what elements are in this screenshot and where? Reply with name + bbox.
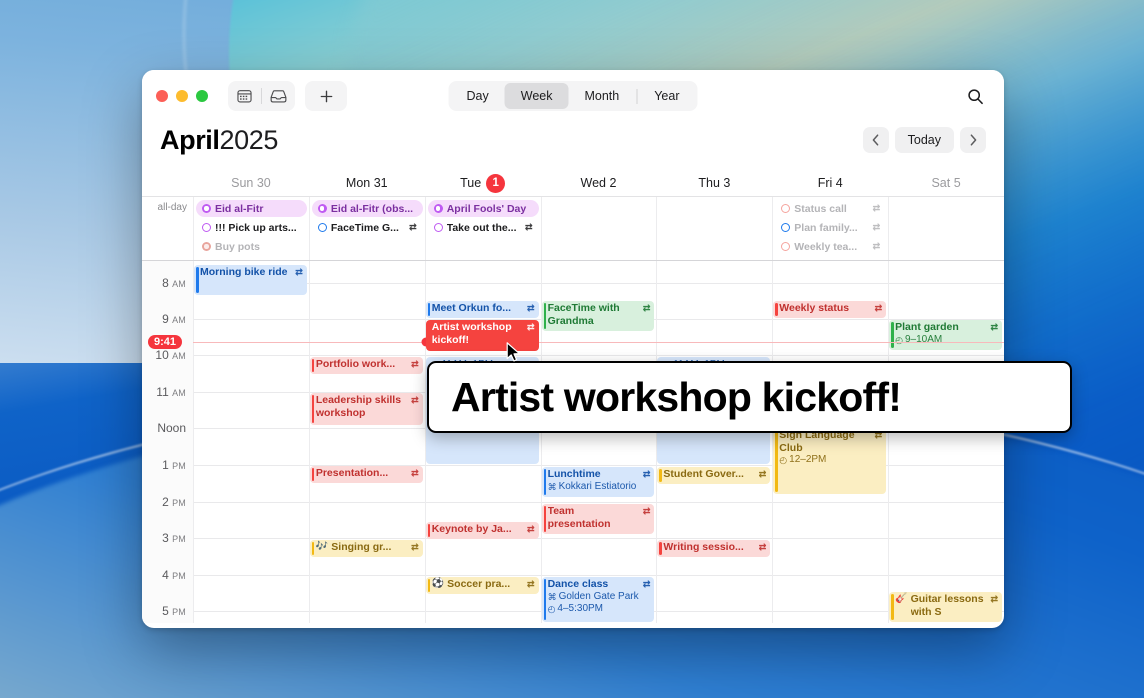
event-emoji-icon: 🎶 xyxy=(316,541,328,554)
event-title: Student Gover... xyxy=(663,468,755,481)
hour-gridline xyxy=(657,502,772,503)
hour-gridline xyxy=(889,575,1004,576)
all-day-event-title: Take out the... xyxy=(447,222,521,234)
event-time: ◴4–5:30PM xyxy=(548,603,651,616)
repeat-icon: ⇄ xyxy=(643,468,651,481)
all-day-event[interactable]: !!! Pick up arts... xyxy=(196,219,307,236)
hour-gridline xyxy=(310,428,425,429)
view-divider xyxy=(636,89,637,104)
repeat-icon: ⇄ xyxy=(409,222,417,233)
hour-gridline xyxy=(657,319,772,320)
all-day-event-title: April Fools' Day xyxy=(447,203,533,215)
event-color-bar xyxy=(544,469,547,495)
hour-gridline xyxy=(426,575,541,576)
event-color-dot xyxy=(781,204,790,213)
repeat-icon: ⇄ xyxy=(411,358,419,371)
hour-label-4: 4 PM xyxy=(162,568,186,582)
all-day-column-3[interactable] xyxy=(541,197,657,260)
hour-gridline xyxy=(194,392,309,393)
mouse-cursor xyxy=(506,342,521,368)
date-navigation: Today xyxy=(863,122,986,153)
time-axis: 8 AM9 AM10 AM11 AMNoon1 PM2 PM3 PM4 PM5 … xyxy=(142,261,193,623)
hour-gridline xyxy=(194,428,309,429)
all-day-column-4[interactable] xyxy=(656,197,772,260)
repeat-icon: ⇄ xyxy=(527,321,535,334)
header-year: 2025 xyxy=(220,125,278,155)
event-color-dot xyxy=(781,223,790,232)
hour-gridline xyxy=(773,319,888,320)
event-title: FaceTime with Grandma xyxy=(548,302,640,327)
zoom-button[interactable] xyxy=(196,90,208,102)
repeat-icon: ⇄ xyxy=(990,593,998,606)
all-day-label: all-day xyxy=(142,197,193,260)
all-day-column-5[interactable]: Status call⇄Plan family...⇄Weekly tea...… xyxy=(772,197,888,260)
event-title: Meet Orkun fo... xyxy=(432,302,524,315)
calendar-event-plant-garden[interactable]: Plant garden⇄◴9–10AM xyxy=(889,320,1002,350)
event-color-bar xyxy=(312,359,315,372)
hour-gridline xyxy=(889,538,1004,539)
close-button[interactable] xyxy=(156,90,168,102)
view-selector[interactable]: Day Week Month Year xyxy=(449,81,698,111)
page-title: April2025 xyxy=(160,122,278,154)
event-color-bar xyxy=(428,322,431,349)
hour-label-10: 10 AM xyxy=(155,348,186,362)
day-header-spacer xyxy=(142,170,193,196)
clock-icon: ◴ xyxy=(548,603,556,616)
day-header-thu[interactable]: Thu 3 xyxy=(656,170,772,196)
hour-gridline xyxy=(426,283,541,284)
event-title: Morning bike ride xyxy=(200,266,292,279)
event-color-dot xyxy=(202,242,211,251)
hour-gridline xyxy=(773,355,888,356)
day-header-mon[interactable]: Mon 31 xyxy=(309,170,425,196)
all-day-column-0[interactable]: Eid al-Fitr!!! Pick up arts...Buy pots xyxy=(193,197,309,260)
all-day-row: all-day Eid al-Fitr!!! Pick up arts...Bu… xyxy=(142,196,1004,261)
repeat-icon: ⇄ xyxy=(873,222,881,233)
event-emoji-icon: ⚽ xyxy=(432,578,444,591)
day-header-name: Fri 4 xyxy=(818,176,843,190)
calendar-event-dance-class[interactable]: Dance class⇄⌘Golden Gate Park◴4–5:30PM xyxy=(542,577,655,622)
hour-gridline xyxy=(657,355,772,356)
location-icon: ⌘ xyxy=(548,481,557,494)
hour-gridline xyxy=(542,283,657,284)
all-day-event-title: Eid al-Fitr (obs... xyxy=(331,203,417,215)
event-title: Portfolio work... xyxy=(316,358,408,371)
event-emoji-icon: 🎸 xyxy=(895,593,907,606)
hour-gridline xyxy=(773,538,888,539)
event-color-bar xyxy=(312,468,315,481)
day-column-6[interactable] xyxy=(888,261,1004,623)
tooltip-text: Artist workshop kickoff! xyxy=(451,374,901,421)
repeat-icon: ⇄ xyxy=(643,578,651,591)
all-day-event[interactable]: Eid al-Fitr (obs... xyxy=(312,200,423,217)
event-title: Singing gr... xyxy=(331,541,408,554)
hour-gridline xyxy=(310,283,425,284)
minimize-button[interactable] xyxy=(176,90,188,102)
hour-gridline xyxy=(194,502,309,503)
hour-gridline xyxy=(657,575,772,576)
hour-gridline xyxy=(889,355,1004,356)
clock-icon: ◴ xyxy=(779,454,787,467)
calendar-event-keynote-by-ja[interactable]: Keynote by Ja...⇄ xyxy=(426,522,539,539)
toolbar-view-group xyxy=(228,81,295,111)
all-day-event-title: Status call xyxy=(794,203,868,215)
view-month[interactable]: Month xyxy=(568,83,635,109)
hour-gridline xyxy=(310,355,425,356)
event-title: Leadership skills workshop xyxy=(316,394,408,419)
event-title: Plant garden xyxy=(895,321,987,334)
event-title: Keynote by Ja... xyxy=(432,523,524,536)
hour-label-1: 1 PM xyxy=(162,458,186,472)
event-color-dot xyxy=(318,204,327,213)
event-color-bar xyxy=(775,303,778,316)
event-color-bar xyxy=(428,303,431,316)
calendar-event-lunchtime[interactable]: Lunchtime⇄⌘Kokkari Estiatorio xyxy=(542,467,655,497)
current-time-label: 9:41 xyxy=(148,335,182,349)
day-header-name: Mon 31 xyxy=(346,176,388,190)
view-week[interactable]: Week xyxy=(505,83,569,109)
calendar-event-morning-bike-ride[interactable]: Morning bike ride⇄ xyxy=(194,265,307,295)
hour-gridline xyxy=(426,355,541,356)
all-day-event-title: FaceTime G... xyxy=(331,222,405,234)
window-toolbar: Day Week Month Year xyxy=(142,70,1004,122)
calendar-event-student-government[interactable]: Student Gover...⇄ xyxy=(657,467,770,484)
all-day-event[interactable]: Weekly tea...⇄ xyxy=(775,238,886,255)
hour-label-2: 2 PM xyxy=(162,495,186,509)
hour-gridline xyxy=(542,502,657,503)
all-day-event[interactable]: Status call⇄ xyxy=(775,200,886,217)
event-color-bar xyxy=(659,469,662,482)
event-color-bar xyxy=(544,579,547,620)
event-title: Soccer pra... xyxy=(447,578,524,591)
hour-label-11: 11 AM xyxy=(156,385,186,399)
hour-gridline xyxy=(310,319,425,320)
event-time: ◴9–10AM xyxy=(895,334,998,347)
event-color-dot xyxy=(202,204,211,213)
traffic-lights xyxy=(142,90,208,102)
hour-gridline xyxy=(426,465,541,466)
all-day-column-1[interactable]: Eid al-Fitr (obs...FaceTime G...⇄ xyxy=(309,197,425,260)
hour-gridline xyxy=(657,283,772,284)
repeat-icon: ⇄ xyxy=(759,541,767,554)
day-header-sat[interactable]: Sat 5 xyxy=(888,170,1004,196)
hour-label-3: 3 PM xyxy=(162,531,186,545)
event-color-bar xyxy=(544,506,547,532)
calendar-event-singing-group[interactable]: 🎶Singing gr...⇄ xyxy=(310,540,423,557)
repeat-icon: ⇄ xyxy=(643,505,651,518)
calendar-event-weekly-status[interactable]: Weekly status⇄ xyxy=(773,301,886,318)
event-title: Lunchtime xyxy=(548,468,640,481)
hour-gridline xyxy=(194,611,309,612)
all-day-event-title: Weekly tea... xyxy=(794,241,868,253)
view-day[interactable]: Day xyxy=(451,83,505,109)
calendar-event-writing-session[interactable]: Writing sessio...⇄ xyxy=(657,540,770,557)
hour-gridline xyxy=(773,611,888,612)
day-header-name: Tue xyxy=(460,176,481,190)
event-color-dot xyxy=(781,242,790,251)
all-day-event[interactable]: Plan family...⇄ xyxy=(775,219,886,236)
today-button[interactable]: Today xyxy=(895,127,954,153)
view-year[interactable]: Year xyxy=(638,83,695,109)
hour-gridline xyxy=(773,283,888,284)
repeat-icon: ⇄ xyxy=(643,302,651,315)
all-day-event[interactable]: Eid al-Fitr xyxy=(196,200,307,217)
event-color-bar xyxy=(775,430,778,492)
day-header-name: Wed 2 xyxy=(581,176,617,190)
hour-gridline xyxy=(194,575,309,576)
all-day-column-2[interactable]: April Fools' DayTake out the...⇄ xyxy=(425,197,541,260)
hour-gridline xyxy=(542,465,657,466)
calendar-event-guitar-lessons[interactable]: 🎸Guitar lessons with S⇄ xyxy=(889,592,1002,622)
location-icon: ⌘ xyxy=(548,591,557,604)
calendar-event-portfolio-work[interactable]: Portfolio work...⇄ xyxy=(310,357,423,374)
hour-gridline xyxy=(194,538,309,539)
event-title: Weekly status xyxy=(779,302,871,315)
event-title: Team presentation xyxy=(548,505,640,530)
hour-gridline xyxy=(194,465,309,466)
calendar-event-leadership-skills-workshop[interactable]: Leadership skills workshop⇄ xyxy=(310,393,423,425)
hour-label-noon: Noon xyxy=(157,421,186,435)
repeat-icon: ⇄ xyxy=(411,394,419,407)
event-color-dot xyxy=(434,204,443,213)
event-title: Guitar lessons with S xyxy=(911,593,988,618)
next-week-button[interactable] xyxy=(960,127,986,153)
hour-gridline xyxy=(542,538,657,539)
hour-gridline xyxy=(889,465,1004,466)
repeat-icon: ⇄ xyxy=(875,302,883,315)
event-color-dot xyxy=(318,223,327,232)
event-color-bar xyxy=(196,267,199,293)
event-color-bar xyxy=(544,303,547,329)
repeat-icon: ⇄ xyxy=(873,241,881,252)
inbox-icon[interactable] xyxy=(262,81,295,111)
hour-gridline xyxy=(310,538,425,539)
calendar-event-sign-language-club[interactable]: Sign Language Club⇄◴12–2PM xyxy=(773,428,886,494)
day-header-name: Thu 3 xyxy=(698,176,730,190)
today-badge: 1 xyxy=(486,174,505,193)
all-day-event-title: Buy pots xyxy=(215,241,301,253)
day-header-fri[interactable]: Fri 4 xyxy=(772,170,888,196)
event-title: Dance class xyxy=(548,578,640,591)
repeat-icon: ⇄ xyxy=(525,222,533,233)
event-title: Writing sessio... xyxy=(663,541,755,554)
day-header-tue[interactable]: Tue1 xyxy=(425,170,541,196)
repeat-icon: ⇄ xyxy=(411,467,419,480)
search-icon[interactable] xyxy=(960,81,990,111)
all-day-event[interactable]: Buy pots xyxy=(196,238,307,255)
hour-gridline xyxy=(542,355,657,356)
all-day-event-title: Plan family... xyxy=(794,222,868,234)
time-grid[interactable]: 8 AM9 AM10 AM11 AMNoon1 PM2 PM3 PM4 PM5 … xyxy=(142,261,1004,623)
event-color-bar xyxy=(891,322,894,348)
hour-label-5: 5 PM xyxy=(162,604,186,618)
hour-gridline xyxy=(310,611,425,612)
hour-gridline xyxy=(773,575,888,576)
clock-icon: ◴ xyxy=(895,334,903,347)
prev-week-button[interactable] xyxy=(863,127,889,153)
calendar-window: Day Week Month Year April2025 Today xyxy=(142,70,1004,628)
event-location: ⌘Golden Gate Park xyxy=(548,591,651,604)
repeat-icon: ⇄ xyxy=(527,578,535,591)
hour-gridline xyxy=(310,502,425,503)
day-header-row: Sun 30Mon 31Tue1Wed 2Thu 3Fri 4Sat 5 xyxy=(142,170,1004,196)
hour-gridline xyxy=(426,611,541,612)
hour-gridline xyxy=(426,502,541,503)
repeat-icon: ⇄ xyxy=(527,523,535,536)
calendar-header: April2025 Today xyxy=(142,122,1004,170)
hour-gridline xyxy=(657,538,772,539)
event-color-dot xyxy=(434,223,443,232)
day-column-1[interactable] xyxy=(309,261,425,623)
repeat-icon: ⇄ xyxy=(990,321,998,334)
repeat-icon: ⇄ xyxy=(295,266,303,279)
calendar-icon[interactable] xyxy=(228,81,261,111)
hour-gridline xyxy=(310,575,425,576)
day-header-sun[interactable]: Sun 30 xyxy=(193,170,309,196)
day-header-wed[interactable]: Wed 2 xyxy=(541,170,657,196)
hour-gridline xyxy=(657,465,772,466)
day-header-name: Sat 5 xyxy=(931,176,960,190)
calendar-event-facetime-with-grandma[interactable]: FaceTime with Grandma⇄ xyxy=(542,301,655,331)
calendar-event-artist-workshop-kickoff[interactable]: Artist workshop kickoff!⇄ xyxy=(426,320,539,351)
hour-label-8: 8 AM xyxy=(162,276,186,290)
event-location: ⌘Kokkari Estiatorio xyxy=(548,481,651,494)
day-header-name: Sun 30 xyxy=(231,176,271,190)
event-color-bar xyxy=(312,542,315,555)
hour-label-9: 9 AM xyxy=(162,312,186,326)
hour-gridline xyxy=(194,355,309,356)
hour-gridline xyxy=(657,611,772,612)
event-color-bar xyxy=(428,579,431,592)
event-tooltip: Artist workshop kickoff! xyxy=(427,361,1072,433)
repeat-icon: ⇄ xyxy=(873,203,881,214)
calendar-event-team-presentation[interactable]: Team presentation⇄ xyxy=(542,504,655,534)
event-title: Presentation... xyxy=(316,467,408,480)
event-color-dot xyxy=(202,223,211,232)
calendar-event-presentation[interactable]: Presentation...⇄ xyxy=(310,466,423,483)
repeat-icon: ⇄ xyxy=(527,302,535,315)
all-day-event[interactable]: Take out the...⇄ xyxy=(428,219,539,236)
add-event-button[interactable] xyxy=(305,81,347,111)
current-time-line xyxy=(193,342,1004,343)
calendar-event-soccer-practice[interactable]: ⚽Soccer pra...⇄ xyxy=(426,577,539,594)
header-month: April xyxy=(160,125,220,155)
hour-gridline xyxy=(889,283,1004,284)
hour-gridline xyxy=(194,319,309,320)
hour-gridline xyxy=(889,502,1004,503)
event-color-bar xyxy=(312,395,315,423)
event-time: ◴12–2PM xyxy=(779,454,882,467)
all-day-column-6[interactable] xyxy=(888,197,1004,260)
event-color-bar xyxy=(659,542,662,555)
repeat-icon: ⇄ xyxy=(759,468,767,481)
all-day-event[interactable]: FaceTime G...⇄ xyxy=(312,219,423,236)
event-color-bar xyxy=(428,524,431,537)
all-day-event-title: !!! Pick up arts... xyxy=(215,222,301,234)
day-column-0[interactable] xyxy=(193,261,309,623)
event-color-bar xyxy=(891,594,894,620)
calendar-event-meet-orkun[interactable]: Meet Orkun fo...⇄ xyxy=(426,301,539,318)
hour-gridline xyxy=(773,502,888,503)
hour-gridline xyxy=(542,575,657,576)
all-day-event-title: Eid al-Fitr xyxy=(215,203,301,215)
all-day-event[interactable]: April Fools' Day xyxy=(428,200,539,217)
repeat-icon: ⇄ xyxy=(411,541,419,554)
